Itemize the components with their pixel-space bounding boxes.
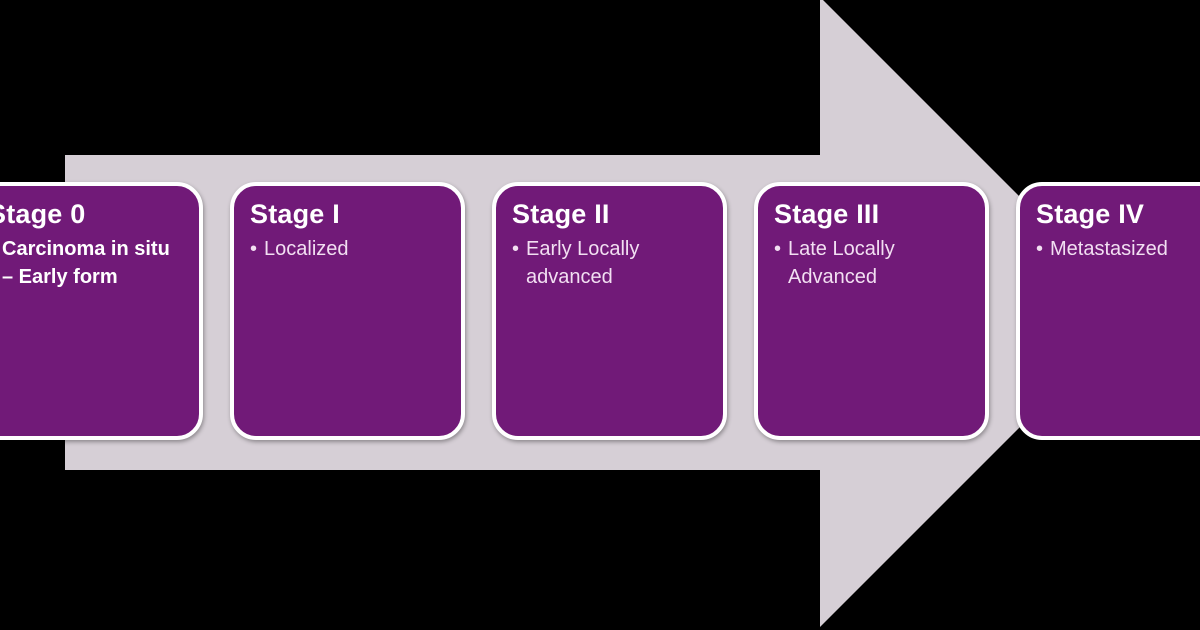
stage-bullet-item: Carcinoma in situ – Early form	[0, 236, 183, 291]
stage-bullet-item: Metastasized	[1036, 236, 1200, 264]
stage-card-0[interactable]: Stage 0 Carcinoma in situ – Early form	[0, 182, 203, 440]
stage-title: Stage I	[250, 200, 445, 228]
stage-bullet-list: Localized	[250, 236, 445, 264]
stage-bullet-item: Localized	[250, 236, 445, 264]
stage-bullet-list: Carcinoma in situ – Early form	[0, 236, 183, 291]
stage-bullet-list: Metastasized	[1036, 236, 1200, 264]
stage-title: Stage 0	[0, 200, 183, 228]
stage-card-3[interactable]: Stage III Late Locally Advanced	[754, 182, 989, 440]
diagram-canvas: Stage 0 Carcinoma in situ – Early form S…	[0, 0, 1200, 630]
stage-bullet-list: Early Locally advanced	[512, 236, 707, 291]
stage-card-4[interactable]: Stage IV Metastasized	[1016, 182, 1200, 440]
stage-card-row: Stage 0 Carcinoma in situ – Early form S…	[0, 182, 1200, 440]
stage-bullet-list: Late Locally Advanced	[774, 236, 969, 291]
stage-card-1[interactable]: Stage I Localized	[230, 182, 465, 440]
stage-title: Stage III	[774, 200, 969, 228]
stage-bullet-item: Late Locally Advanced	[774, 236, 969, 291]
stage-bullet-item: Early Locally advanced	[512, 236, 707, 291]
stage-card-2[interactable]: Stage II Early Locally advanced	[492, 182, 727, 440]
stage-title: Stage IV	[1036, 200, 1200, 228]
stage-title: Stage II	[512, 200, 707, 228]
